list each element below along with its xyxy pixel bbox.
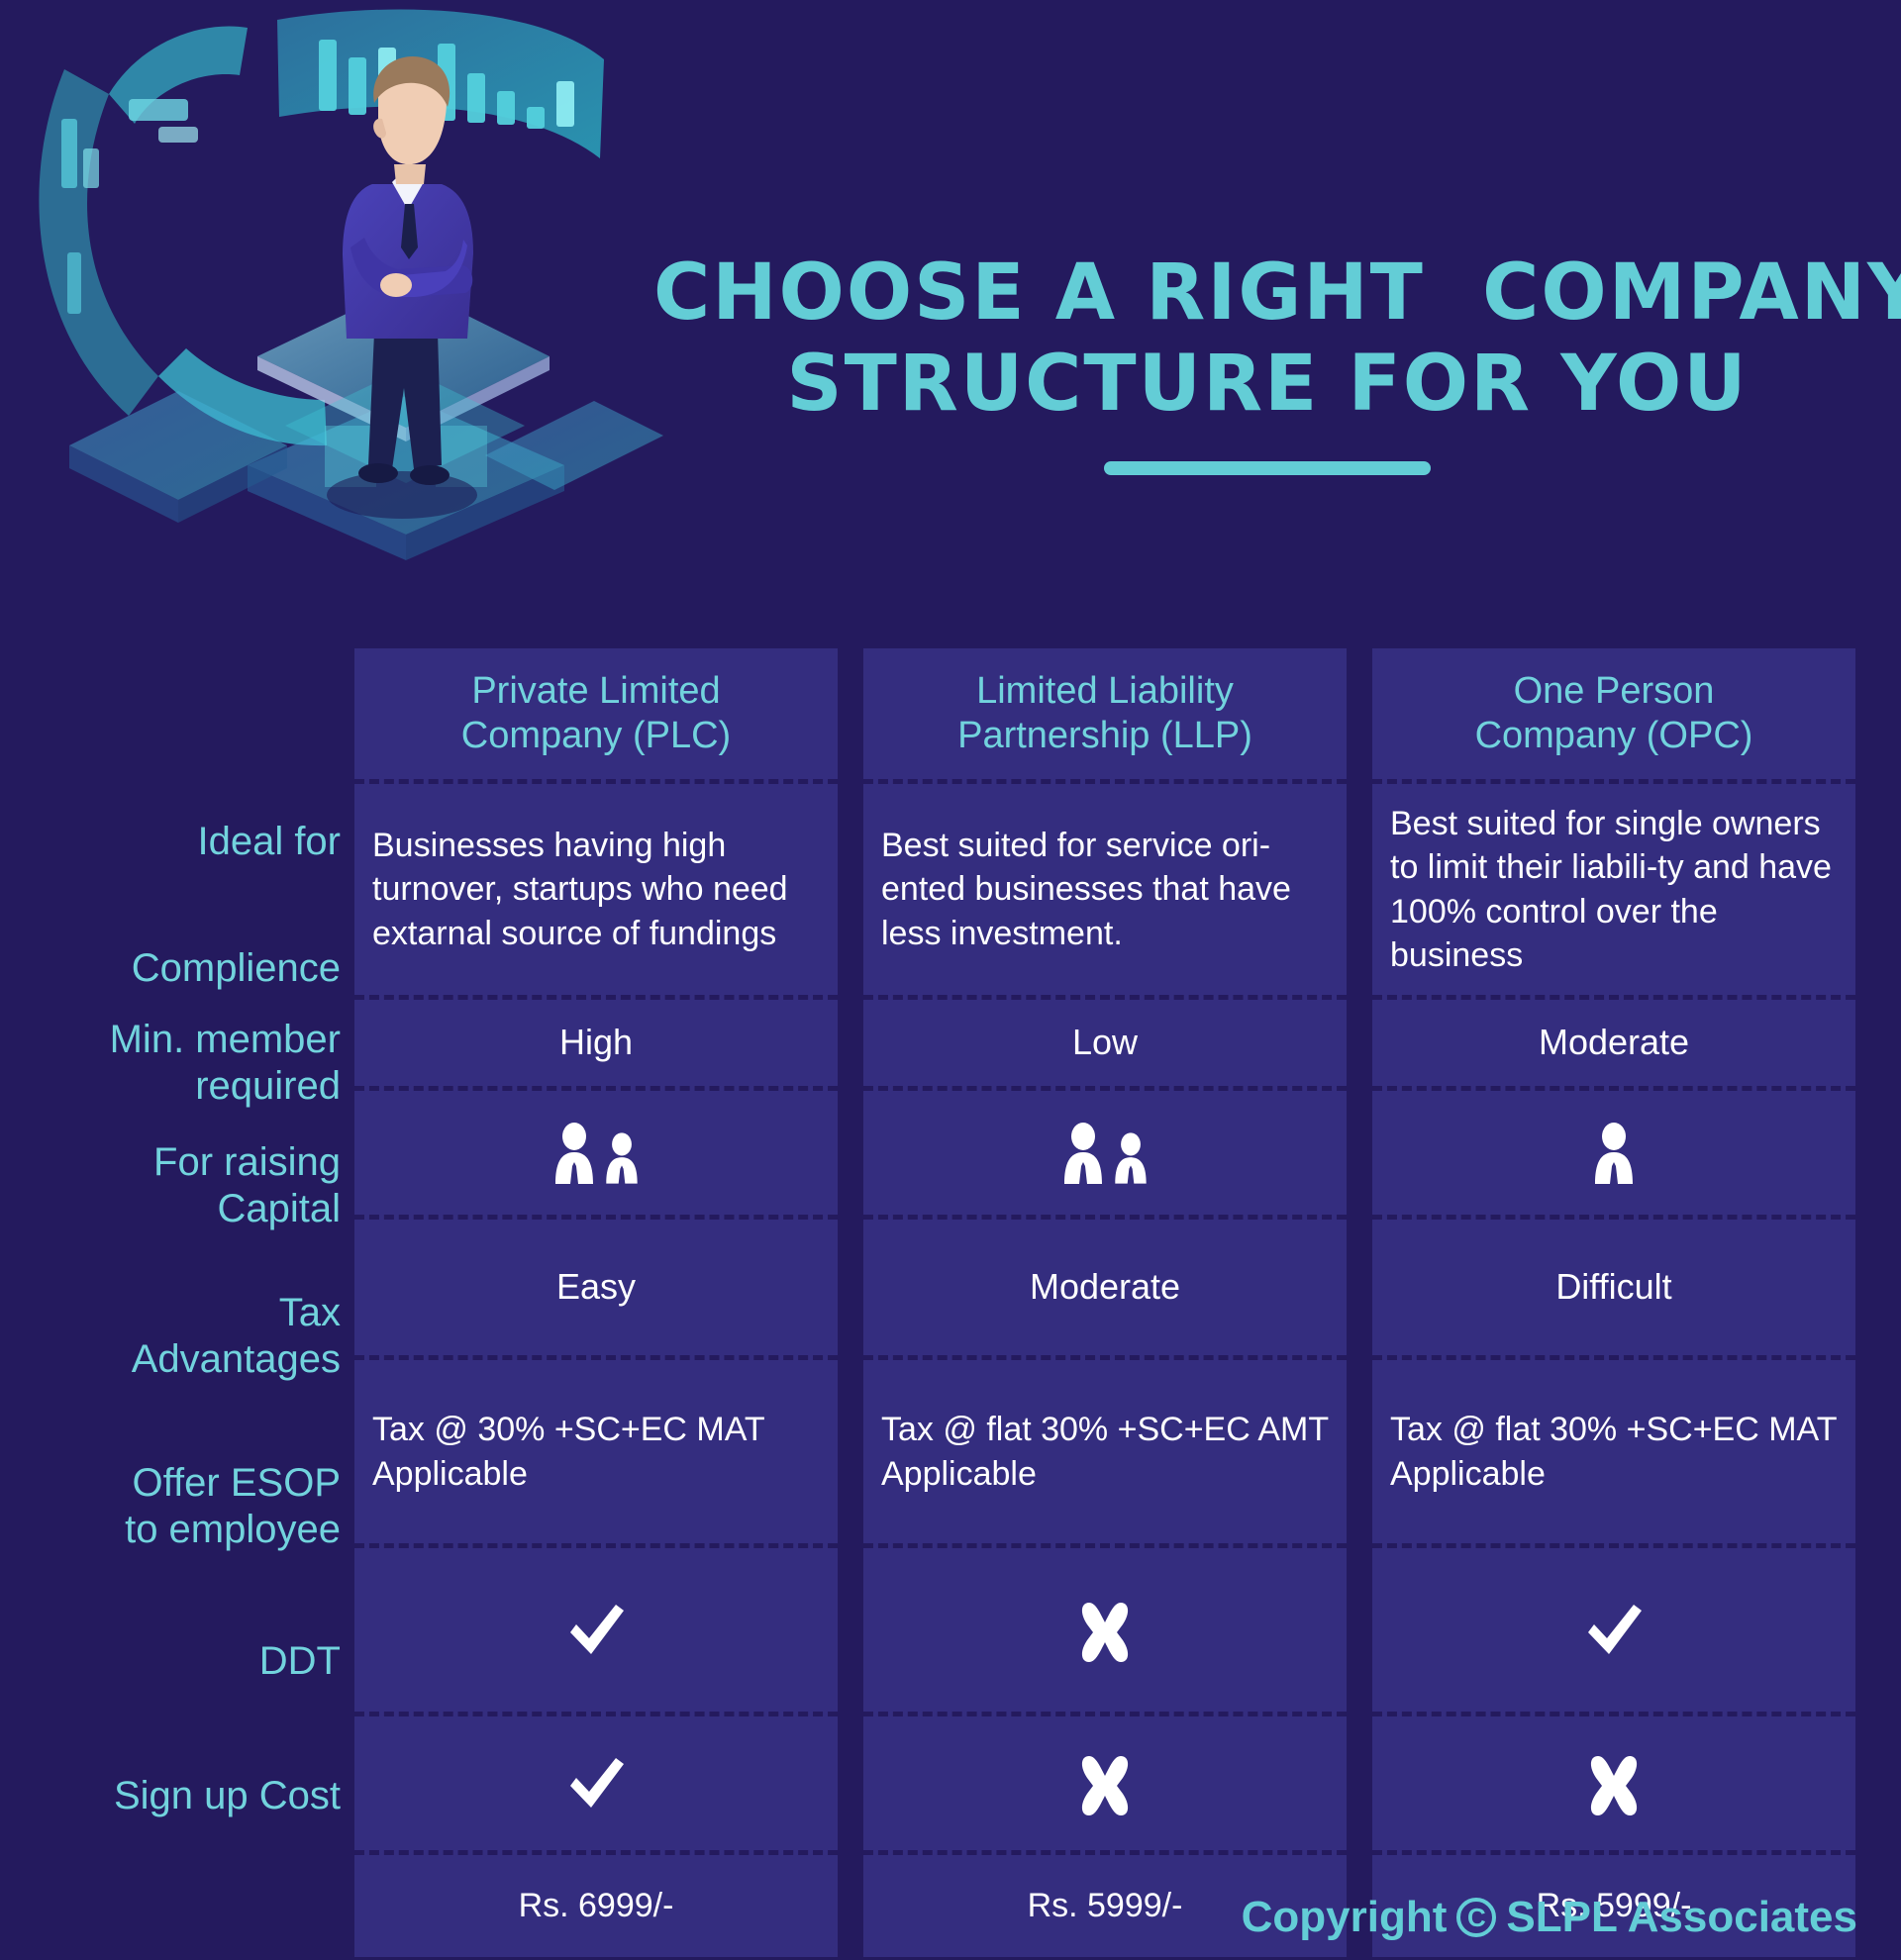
copyright-footer: Copyright C SLPL Associates xyxy=(1242,1893,1857,1942)
check-icon xyxy=(560,1595,632,1666)
row-label-for-raising-capital: For raising Capital xyxy=(0,1139,341,1232)
cell-plc-tax-advantages: Tax @ 30% +SC+EC MAT Applicable xyxy=(354,1355,838,1543)
cell-opc-complience: Moderate xyxy=(1372,995,1855,1086)
column-header-plc-line-1: Private Limited xyxy=(461,669,731,714)
cell-llp-for-raising-capital: Moderate xyxy=(863,1215,1347,1355)
cross-icon xyxy=(1069,1748,1141,1819)
row-label-complience: Complience xyxy=(0,945,341,992)
person-icon xyxy=(603,1132,641,1184)
cell-opc-ideal-for: Best suited for single owners to limit t… xyxy=(1372,779,1855,995)
cell-opc-ddt xyxy=(1372,1712,1855,1850)
row-label-sign-up-cost: Sign up Cost xyxy=(0,1773,341,1819)
person-icon-group xyxy=(1060,1123,1150,1184)
person-icon-group xyxy=(551,1123,641,1184)
cell-llp-ddt xyxy=(863,1712,1347,1850)
cell-opc-tax-advantages: Tax @ flat 30% +SC+EC MAT Applicable xyxy=(1372,1355,1855,1543)
person-icon xyxy=(1591,1123,1637,1184)
column-llp: Limited Liability Partnership (LLP) Best… xyxy=(863,648,1347,1957)
cross-icon xyxy=(1578,1748,1650,1819)
cell-plc-for-raising-capital: Easy xyxy=(354,1215,838,1355)
column-header-plc-line-2: Company (PLC) xyxy=(461,714,731,758)
row-label-min-member-required: Min. member required xyxy=(0,1017,341,1110)
person-icon-group xyxy=(1591,1123,1637,1184)
column-header-llp-line-2: Partnership (LLP) xyxy=(957,714,1252,758)
column-header-llp-line-1: Limited Liability xyxy=(957,669,1252,714)
column-header-plc: Private Limited Company (PLC) xyxy=(354,648,838,779)
copyright-word: Copyright xyxy=(1242,1893,1448,1942)
column-header-llp: Limited Liability Partnership (LLP) xyxy=(863,648,1347,779)
check-icon xyxy=(1578,1595,1650,1666)
cell-llp-tax-advantages: Tax @ flat 30% +SC+EC AMT Applicable xyxy=(863,1355,1347,1543)
check-icon xyxy=(560,1748,632,1819)
copyright-icon: C xyxy=(1456,1898,1496,1937)
column-header-opc: One Person Company (OPC) xyxy=(1372,648,1855,779)
hero-banner: CHOOSE A RIGHT COMPANY STRUCTURE FOR YOU xyxy=(0,0,1901,634)
cross-icon xyxy=(1069,1595,1141,1666)
cell-opc-offer-esop-to-employee xyxy=(1372,1543,1855,1712)
column-plc: Private Limited Company (PLC) Businesses… xyxy=(354,648,838,1957)
person-icon xyxy=(1112,1132,1150,1184)
cell-llp-complience: Low xyxy=(863,995,1347,1086)
cell-llp-min-member-required xyxy=(863,1086,1347,1215)
cell-plc-complience: High xyxy=(354,995,838,1086)
row-label-tax-advantages: Tax Advantages xyxy=(0,1290,341,1383)
title-underline-rule xyxy=(1104,461,1431,475)
cell-opc-for-raising-capital: Difficult xyxy=(1372,1215,1855,1355)
cell-llp-ideal-for: Best suited for service ori-ented busine… xyxy=(863,779,1347,995)
page-title: CHOOSE A RIGHT COMPANY STRUCTURE FOR YOU xyxy=(653,247,1881,475)
cell-plc-sign-up-cost: Rs. 6999/- xyxy=(354,1850,838,1957)
page-title-line-1: CHOOSE A RIGHT COMPANY xyxy=(653,247,1881,339)
person-icon xyxy=(551,1123,597,1184)
column-header-opc-line-2: Company (OPC) xyxy=(1475,714,1753,758)
person-icon xyxy=(1060,1123,1106,1184)
cell-plc-ddt xyxy=(354,1712,838,1850)
cell-llp-offer-esop-to-employee xyxy=(863,1543,1347,1712)
row-label-ddt: DDT xyxy=(0,1638,341,1685)
cell-plc-offer-esop-to-employee xyxy=(354,1543,838,1712)
company-name: SLPL Associates xyxy=(1506,1893,1857,1942)
column-header-opc-line-1: One Person xyxy=(1475,669,1753,714)
row-label-ideal-for: Ideal for xyxy=(0,819,341,865)
cell-plc-min-member-required xyxy=(354,1086,838,1215)
businessman-data-isometric-illustration xyxy=(10,0,663,614)
cell-plc-ideal-for: Businesses having high turnover, startup… xyxy=(354,779,838,995)
column-opc: One Person Company (OPC) Best suited for… xyxy=(1372,648,1855,1957)
page-title-line-2: STRUCTURE FOR YOU xyxy=(653,339,1881,430)
cell-opc-min-member-required xyxy=(1372,1086,1855,1215)
row-label-offer-esop-to-employee: Offer ESOP to employee xyxy=(0,1460,341,1553)
comparison-table: Ideal for Complience Min. member require… xyxy=(0,648,1901,1886)
